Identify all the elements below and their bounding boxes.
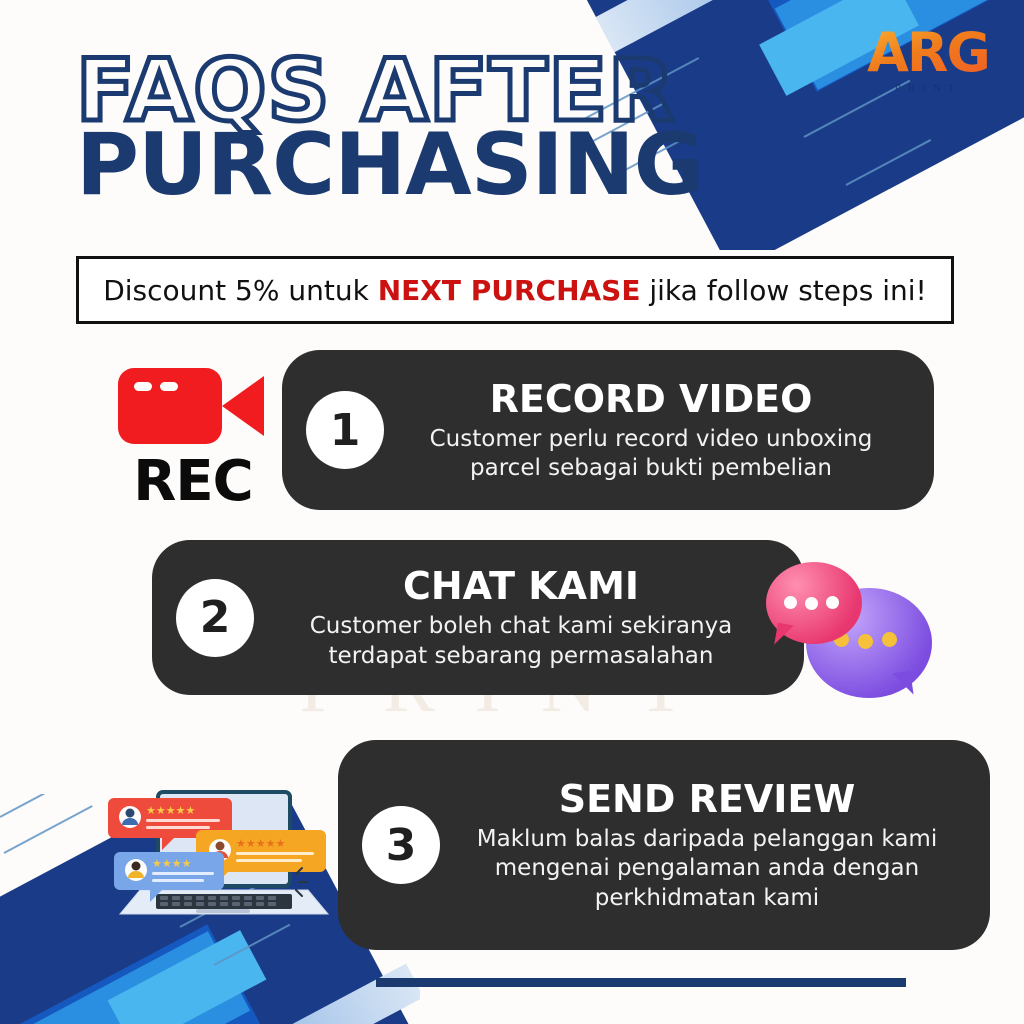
decor-shape-blue [0, 924, 278, 1024]
step-description: Customer boleh chat kami sekiranya terda… [264, 612, 778, 671]
chat-dot-white [784, 596, 797, 609]
page-title: FAQS AFTER PURCHASING [76, 52, 703, 207]
logo-wordmark: ARG [858, 26, 998, 80]
step-description-line: parcel sebagai bukti pembelian [394, 454, 908, 483]
decor-shape-mid-blue [27, 931, 250, 1024]
title-line-2: PURCHASING [76, 125, 703, 207]
step-description: Maklum balas daripada pelanggan kami men… [450, 825, 964, 913]
chat-bubble-pink-tail [774, 623, 794, 647]
banner-text-highlight: NEXT PURCHASE [378, 274, 641, 307]
step-description-line: Customer boleh chat kami sekiranya [264, 612, 778, 641]
laptop-reviews-svg: ★★★★★ ★★★★★ ★★★★ [96, 778, 346, 928]
step-card-body: CHAT KAMI Customer boleh chat kami sekir… [254, 564, 804, 671]
step-description-line: Maklum balas daripada pelanggan kami [450, 825, 964, 854]
step-title: CHAT KAMI [264, 564, 778, 608]
chat-bubbles-icon [758, 556, 938, 706]
banner-text-before: Discount 5% untuk [103, 274, 377, 307]
chat-dot-yellow [882, 632, 897, 647]
decor-hairline [846, 139, 932, 186]
step-card-3: 3 SEND REVIEW Maklum balas daripada pela… [338, 740, 990, 950]
step-title: SEND REVIEW [450, 777, 964, 821]
svg-text:★★★★★: ★★★★★ [236, 837, 285, 850]
brand-logo: ARG PRINT [858, 26, 998, 112]
step-description-line: Customer perlu record video unboxing [394, 425, 908, 454]
discount-banner: Discount 5% untuk NEXT PURCHASE jika fol… [76, 256, 954, 324]
discount-banner-text: Discount 5% untuk NEXT PURCHASE jika fol… [103, 274, 927, 307]
camera-lens [222, 376, 264, 436]
step-description-line: perkhidmatan kami [450, 884, 964, 913]
decor-shape-cyan [108, 930, 267, 1024]
svg-text:★★★★★: ★★★★★ [146, 804, 195, 817]
camera-indicator-dot [134, 382, 152, 391]
step-description: Customer perlu record video unboxing par… [394, 425, 908, 484]
step-card-body: SEND REVIEW Maklum balas daripada pelang… [440, 777, 990, 913]
step-description-line: terdapat sebarang permasalahan [264, 642, 778, 671]
chat-dot-white [805, 597, 818, 610]
infographic-canvas: PRINT ARG PRINT FAQS AFTER PURCHASING [0, 0, 1024, 1024]
chat-dot-yellow [858, 634, 873, 649]
laptop-reviews-icon: ★★★★★ ★★★★★ ★★★★ [96, 778, 346, 928]
banner-text-after: jika follow steps ini! [640, 274, 926, 307]
logo-tagline: PRINT [858, 82, 998, 94]
camera-body [118, 368, 222, 444]
decor-hairline [4, 805, 93, 854]
decor-shape-gradient [238, 964, 420, 1024]
decor-hairline [214, 924, 291, 966]
camera-indicator-dot [160, 382, 178, 391]
video-camera-rec-icon: REC [112, 360, 274, 510]
step-number-badge: 1 [306, 391, 384, 469]
step-number-badge: 3 [362, 806, 440, 884]
chat-dot-white [826, 596, 839, 609]
step-description-line: mengenai pengalaman anda dengan [450, 854, 964, 883]
step-card-body: RECORD VIDEO Customer perlu record video… [384, 377, 934, 484]
step-title: RECORD VIDEO [394, 377, 908, 421]
bottom-divider-bar [376, 978, 906, 987]
step-card-2: 2 CHAT KAMI Customer boleh chat kami sek… [152, 540, 804, 695]
step-card-1: 1 RECORD VIDEO Customer perlu record vid… [282, 350, 934, 510]
svg-text:★★★★: ★★★★ [152, 857, 192, 870]
camera-glyph [118, 360, 268, 452]
rec-label: REC [112, 454, 274, 510]
step-number-badge: 2 [176, 579, 254, 657]
chat-bubble-purple-tail [892, 671, 913, 697]
